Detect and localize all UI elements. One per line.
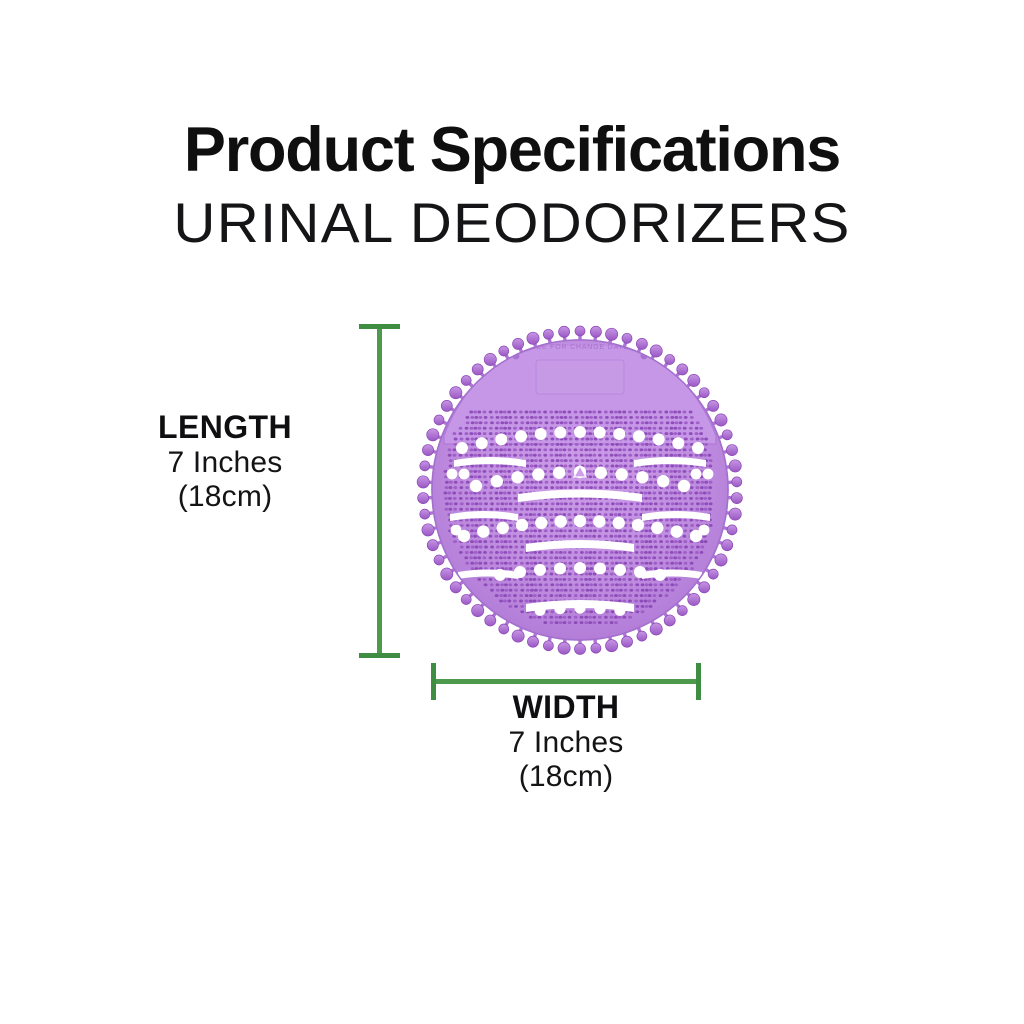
width-cap-right-icon	[696, 663, 701, 700]
width-metric: (18cm)	[436, 760, 696, 794]
width-value: 7 Inches	[436, 726, 696, 760]
page-title: Product Specifications	[0, 118, 1024, 182]
length-metric: (18cm)	[95, 480, 355, 514]
product-image: SEE FOR CHANGE DATE	[404, 316, 756, 664]
width-label: WIDTH	[436, 690, 696, 726]
embossed-change-date-text: SEE FOR CHANGE DATE	[531, 344, 629, 351]
length-label-group: LENGTH 7 Inches (18cm)	[95, 410, 355, 514]
specification-card: Product Specifications URINAL DEODORIZER…	[0, 0, 1024, 1024]
width-label-group: WIDTH 7 Inches (18cm)	[436, 690, 696, 794]
page-subtitle: URINAL DEODORIZERS	[0, 182, 1024, 253]
length-value: 7 Inches	[95, 446, 355, 480]
length-cap-top-icon	[359, 324, 400, 329]
length-cap-bottom-icon	[359, 653, 400, 658]
length-label: LENGTH	[95, 410, 355, 446]
length-dimension-line	[377, 324, 382, 658]
heading-block: Product Specifications URINAL DEODORIZER…	[0, 118, 1024, 253]
width-dimension-line	[431, 679, 701, 684]
